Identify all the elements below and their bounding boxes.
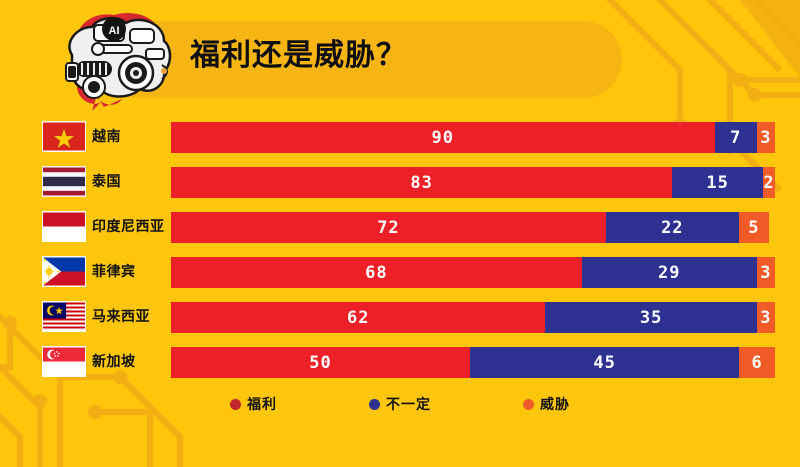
chart-row: 泰国83152 [0,163,800,208]
legend-item: 福利 [230,394,277,414]
page-title: 福利还是威胁？ [190,36,407,76]
bar-segment-unsure: 45 [470,347,739,378]
flag-thailand-icon [42,166,86,197]
bar-segment-threat: 6 [739,347,775,378]
chart-row: 印度尼西亚72225 [0,208,800,253]
country-label: 泰国 [92,171,121,191]
flag-malaysia-icon [42,301,86,332]
bar-segment-unsure: 7 [715,122,757,153]
ai-robot-brain-logo: AI [42,7,182,114]
bar-segment-threat: 2 [763,167,775,198]
flag-vietnam-icon [42,121,86,152]
legend-dot-threat [523,399,534,410]
legend-dot-unsure [369,399,380,410]
flag-indonesia-icon [42,211,86,242]
legend-label: 威胁 [540,394,570,414]
stacked-bar-chart: 越南9073 泰国83152 印度尼西亚72225 菲律宾68293 马来西亚6… [0,118,800,388]
bar-segment-threat: 5 [739,212,769,243]
stacked-bar: 9073 [171,122,775,153]
bar-segment-threat: 3 [757,122,775,153]
bar-segment-benefit: 72 [171,212,606,243]
stacked-bar: 83152 [171,167,775,198]
legend-item: 不一定 [369,394,431,414]
legend-label: 福利 [247,394,277,414]
infographic-canvas: AI 福利还是威胁？ 越南9073 泰国83152 [0,0,800,467]
chart-row: 越南9073 [0,118,800,163]
bar-segment-benefit: 83 [171,167,672,198]
bar-segment-unsure: 15 [672,167,763,198]
bar-segment-threat: 3 [757,302,775,333]
bar-segment-benefit: 68 [171,257,582,288]
bar-segment-benefit: 62 [171,302,545,333]
country-label: 越南 [92,126,121,146]
country-label: 新加坡 [92,351,136,371]
stacked-bar: 72225 [171,212,775,243]
bar-segment-unsure: 29 [582,257,757,288]
bar-segment-benefit: 50 [171,347,470,378]
chart-row: 马来西亚62353 [0,298,800,343]
country-label: 印度尼西亚 [92,216,165,236]
flag-philippines-icon [42,256,86,287]
bar-segment-unsure: 22 [606,212,739,243]
bar-segment-benefit: 90 [171,122,715,153]
chart-legend: 福利不一定威胁 [0,394,800,414]
stacked-bar: 68293 [171,257,775,288]
legend-dot-benefit [230,399,241,410]
flag-singapore-icon [42,346,86,377]
bar-segment-threat: 3 [757,257,775,288]
bar-segment-unsure: 35 [545,302,756,333]
svg-text:AI: AI [109,25,120,37]
legend-label: 不一定 [386,394,431,414]
chart-row: 新加坡50456 [0,343,800,388]
stacked-bar: 62353 [171,302,775,333]
stacked-bar: 50456 [171,347,775,378]
chart-row: 菲律宾68293 [0,253,800,298]
country-label: 菲律宾 [92,261,136,281]
country-label: 马来西亚 [92,306,150,326]
legend-item: 威胁 [523,394,570,414]
